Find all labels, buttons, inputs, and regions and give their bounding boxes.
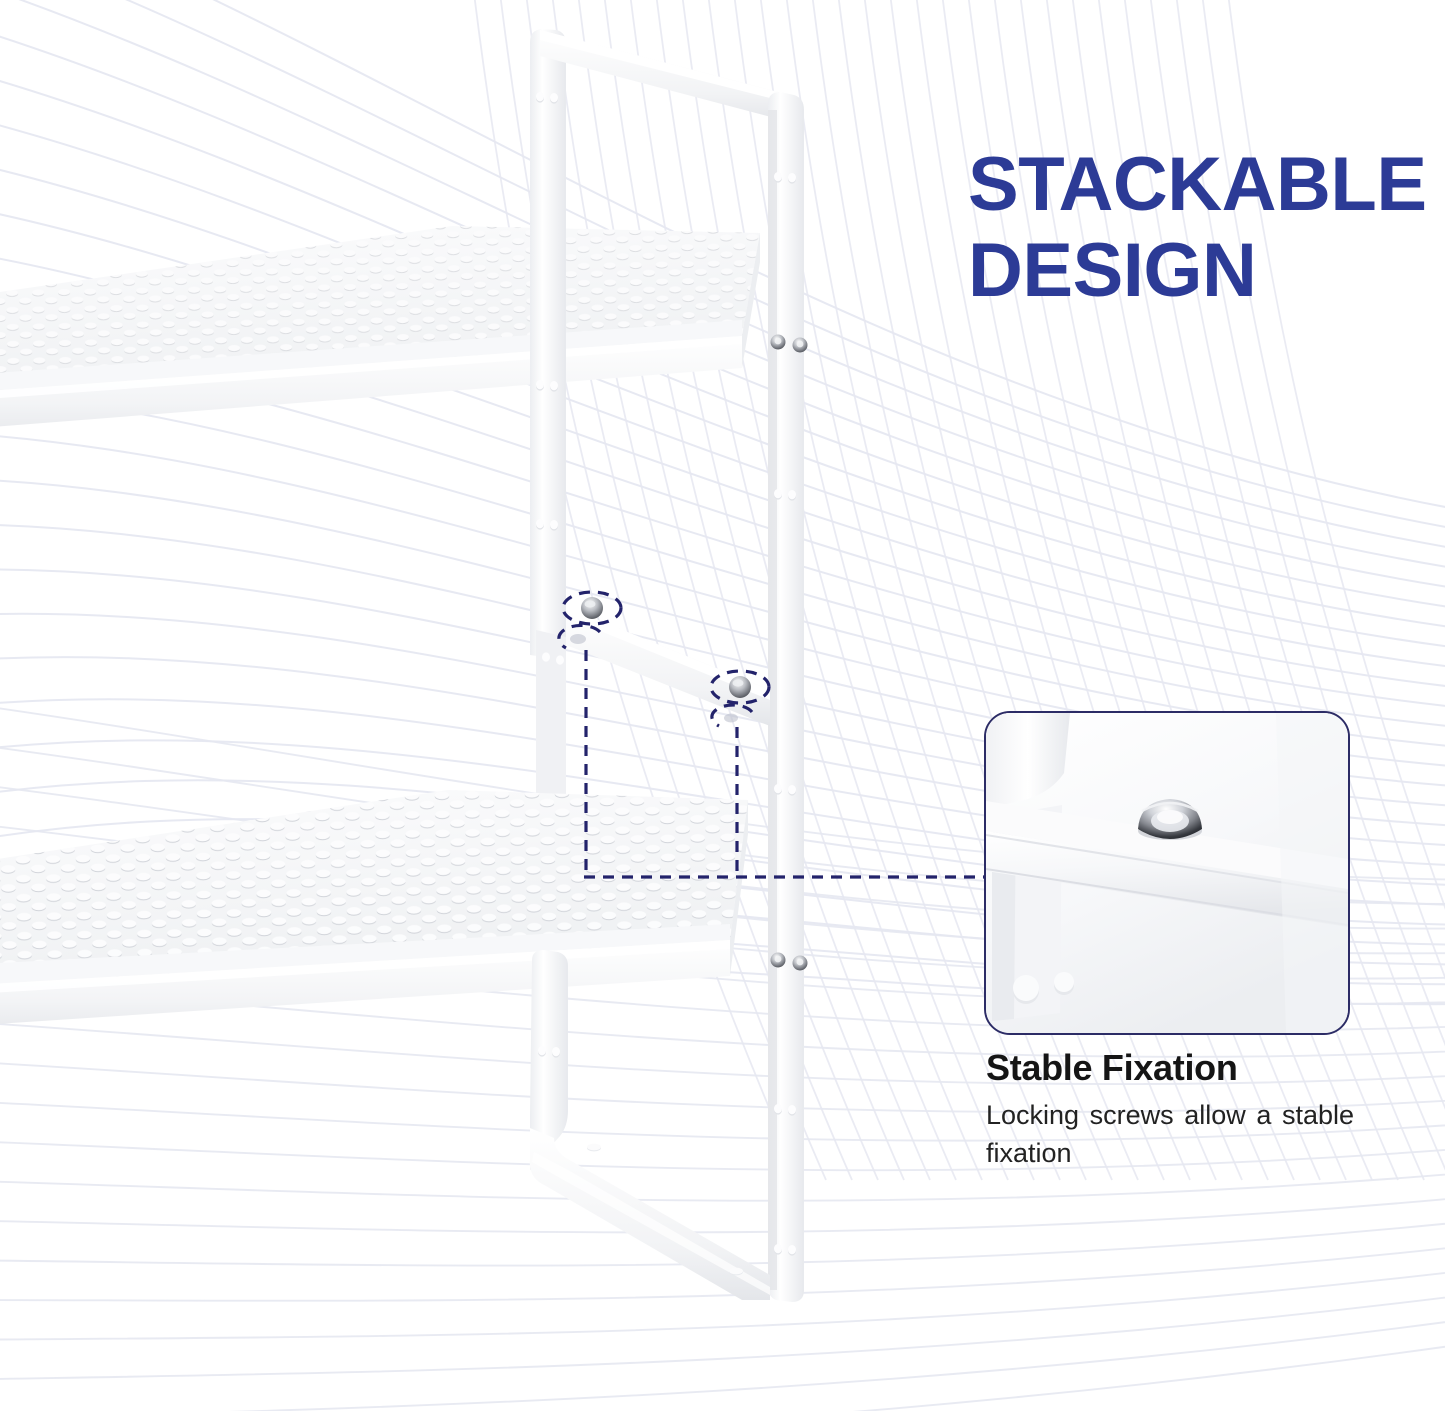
caption-block: Stable Fixation Locking screws allow a s… (986, 1048, 1354, 1172)
headline-line-2: DESIGN (968, 234, 1438, 308)
middle-connector-bar (536, 607, 770, 800)
lower-shelf (0, 790, 748, 1042)
lower-frame-bracket (530, 950, 770, 1300)
detail-inset-image (986, 713, 1348, 1033)
caption-body: Locking screws allow a stable fixation (986, 1096, 1354, 1173)
page-title: STACKABLE DESIGN (968, 148, 1438, 309)
product-marketing-image: STACKABLE DESIGN (0, 0, 1445, 1411)
headline-line-1: STACKABLE (968, 148, 1438, 222)
caption-title: Stable Fixation (986, 1048, 1354, 1088)
upper-shelf (0, 226, 760, 448)
detail-inset-panel (984, 711, 1350, 1035)
